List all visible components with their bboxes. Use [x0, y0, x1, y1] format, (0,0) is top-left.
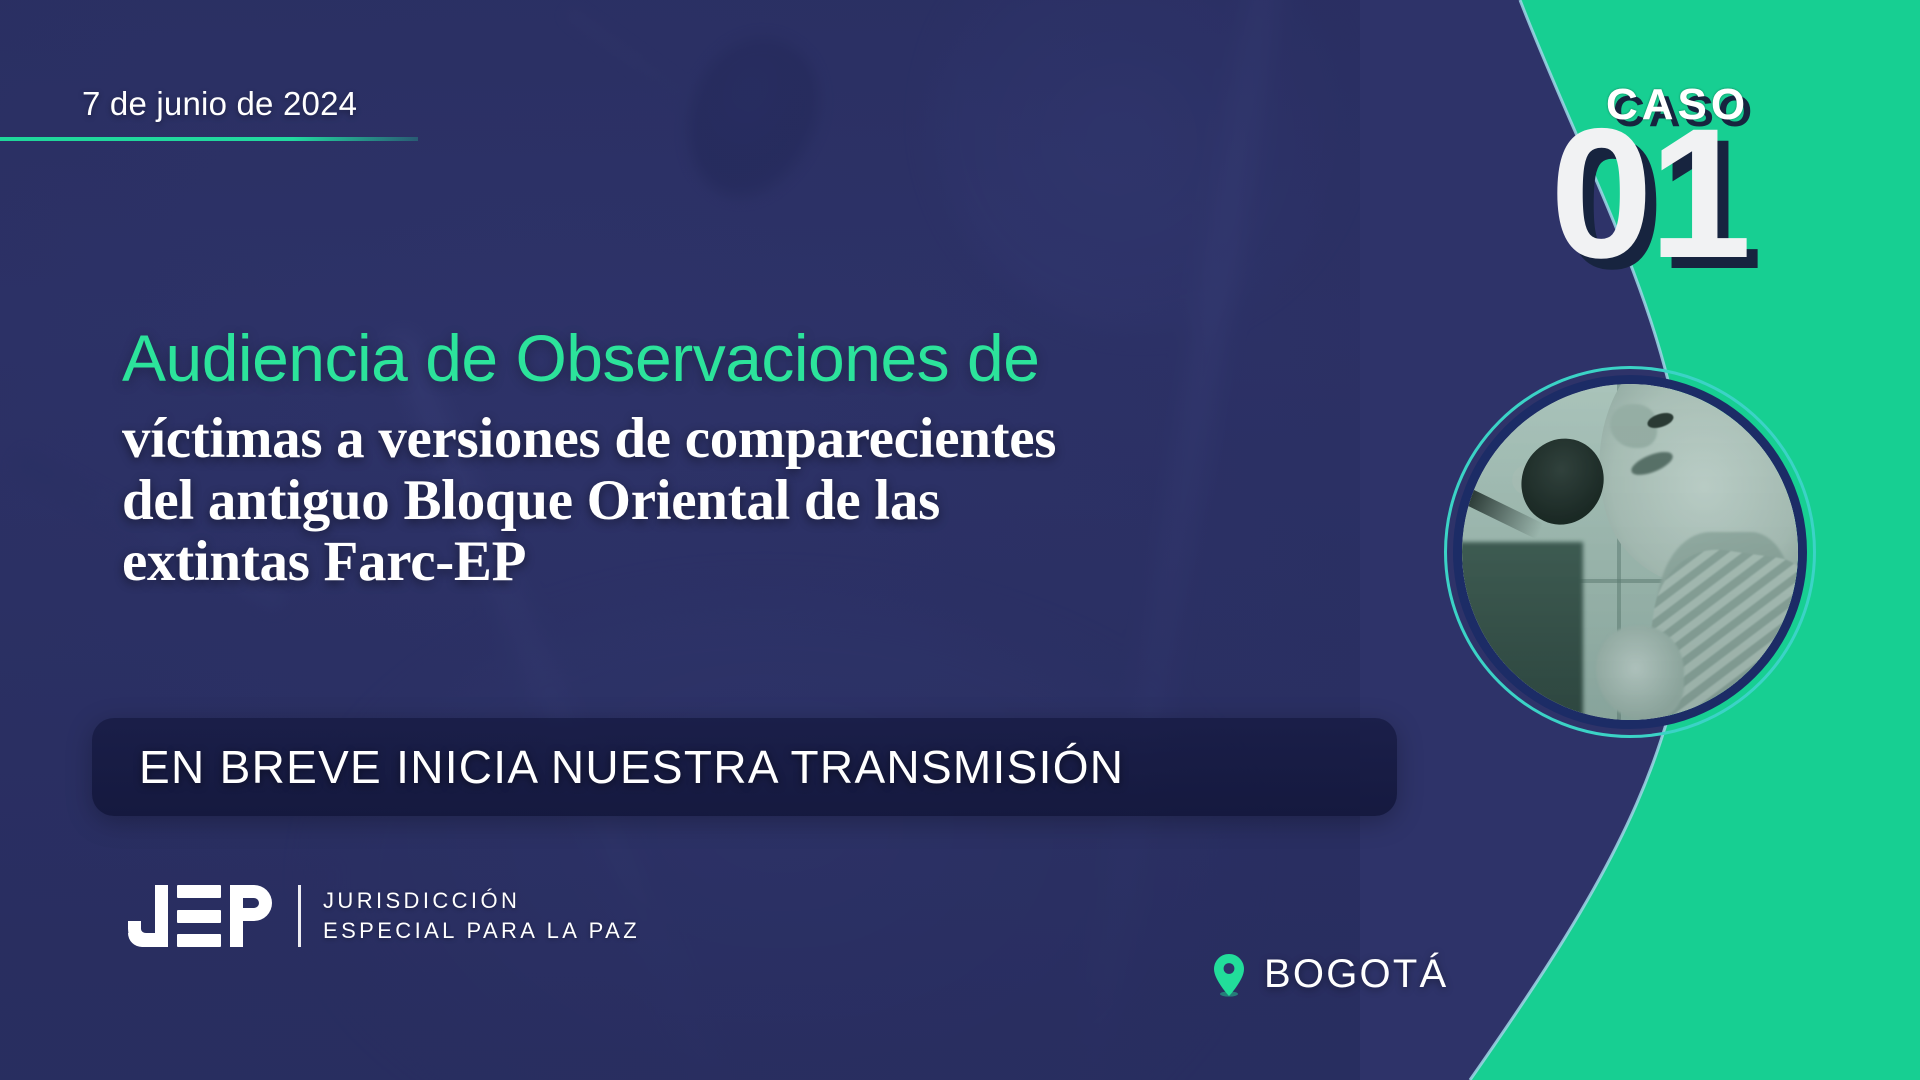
logo-divider	[298, 885, 301, 947]
page-title-line-1: víctimas a versiones de comparecientes	[122, 408, 1372, 470]
page-title-main: víctimas a versiones de comparecientes d…	[122, 408, 1372, 593]
date-block: 7 de junio de 2024	[0, 85, 420, 141]
jep-logomark-icon	[128, 885, 272, 947]
jep-logo-wordmark: JURISDICCIÓN ESPECIAL PARA LA PAZ	[323, 886, 640, 947]
case-badge: CASO 01	[1520, 72, 1840, 332]
location-block: BOGOTÁ	[1212, 952, 1448, 997]
portrait-green-tint	[1462, 384, 1798, 720]
letter-p-glyph	[230, 885, 272, 947]
letter-j-glyph	[128, 885, 168, 947]
location-label: BOGOTÁ	[1264, 952, 1448, 997]
circular-portrait	[1444, 366, 1816, 738]
letter-e-glyph	[177, 885, 221, 947]
page-title-line-3: extintas Farc-EP	[122, 531, 1372, 593]
map-pin-icon	[1212, 953, 1246, 997]
page-title-line-2: del antiguo Bloque Oriental de las	[122, 470, 1372, 532]
page-title-accent: Audiencia de Observaciones de	[122, 325, 1372, 392]
event-date: 7 de junio de 2024	[0, 85, 420, 123]
date-underline	[0, 137, 418, 141]
jep-wordmark-line-2: ESPECIAL PARA LA PAZ	[323, 916, 640, 946]
broadcast-slate: 7 de junio de 2024 Audiencia de Observac…	[0, 0, 1920, 1080]
portrait-inner-ring	[1453, 375, 1807, 729]
title-block: Audiencia de Observaciones de víctimas a…	[122, 325, 1372, 593]
case-badge-number: 01	[1550, 102, 1748, 287]
status-banner: EN BREVE INICIA NUESTRA TRANSMISIÓN	[92, 718, 1397, 816]
status-banner-text: EN BREVE INICIA NUESTRA TRANSMISIÓN	[92, 740, 1124, 794]
jep-wordmark-line-1: JURISDICCIÓN	[323, 886, 640, 916]
jep-logo: JURISDICCIÓN ESPECIAL PARA LA PAZ	[128, 885, 640, 947]
portrait-photo	[1462, 384, 1798, 720]
